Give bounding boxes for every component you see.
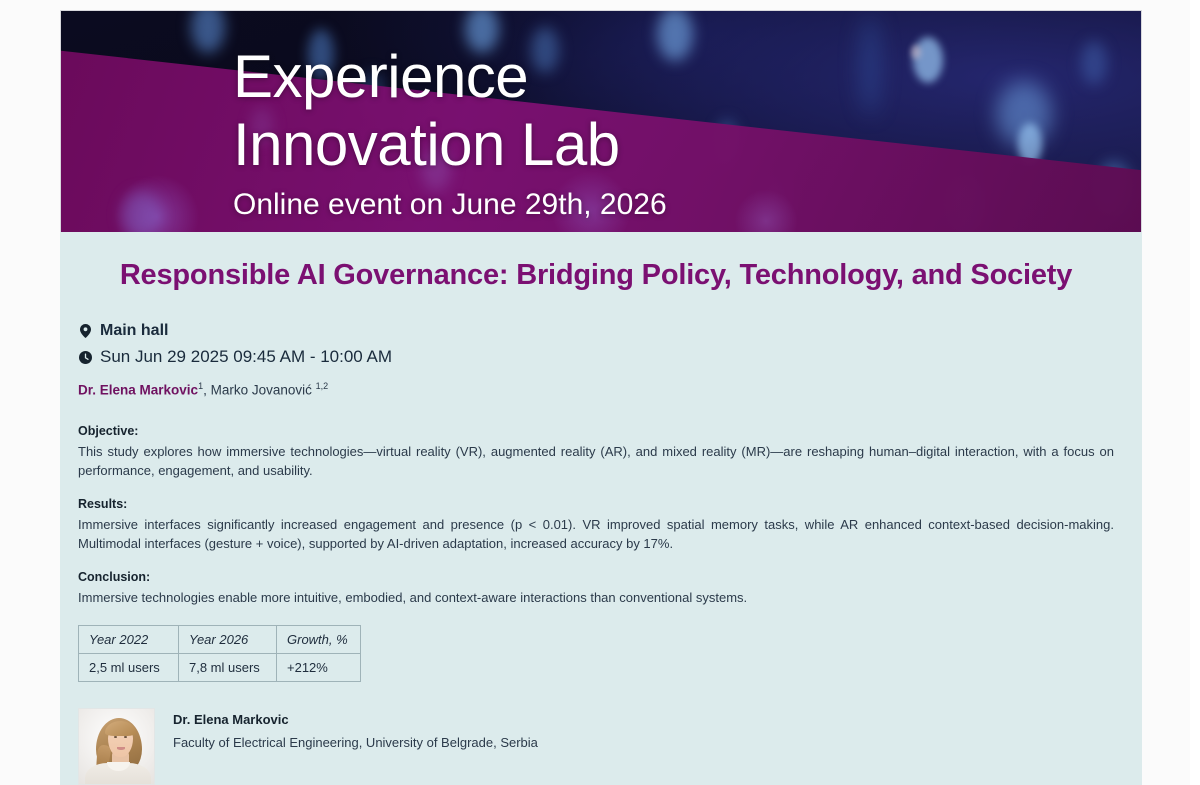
avatar-eye-left bbox=[114, 736, 117, 738]
abstract-conclusion-section: Conclusion: Immersive technologies enabl… bbox=[78, 568, 1114, 607]
speaker-name[interactable]: Dr. Elena Markovic bbox=[173, 710, 538, 730]
abstract-conclusion-label: Conclusion: bbox=[78, 568, 1114, 586]
abstract-objective-text: This study explores how immersive techno… bbox=[78, 442, 1114, 480]
growth-stats-table: Year 2022 Year 2026 Growth, % 2,5 ml use… bbox=[78, 625, 361, 682]
speaker-info: Dr. Elena Markovic Faculty of Electrical… bbox=[173, 708, 538, 753]
author-second-name[interactable]: Marko Jovanović bbox=[211, 383, 312, 398]
banner-text-block: Experience Innovation Lab Online event o… bbox=[233, 43, 1113, 225]
abstract-objective-section: Objective: This study explores how immer… bbox=[78, 422, 1114, 480]
bokeh-light-icon bbox=[121, 191, 161, 232]
clock-icon bbox=[78, 351, 92, 364]
abstract-objective-label: Objective: bbox=[78, 422, 1114, 440]
speaker-affiliation: Faculty of Electrical Engineering, Unive… bbox=[173, 732, 538, 753]
page-title: Responsible AI Governance: Bridging Poli… bbox=[78, 256, 1114, 294]
avatar bbox=[78, 708, 155, 785]
table-cell: 7,8 ml users bbox=[179, 653, 277, 681]
page-right-gutter bbox=[1190, 0, 1200, 785]
table-header-cell: Growth, % bbox=[277, 625, 361, 653]
session-time-label: Sun Jun 29 2025 09:45 AM - 10:00 AM bbox=[100, 345, 392, 369]
abstract-results-text: Immersive interfaces significantly incre… bbox=[78, 515, 1114, 553]
table-cell: +212% bbox=[277, 653, 361, 681]
author-separator: , bbox=[203, 383, 211, 398]
abstract-results-section: Results: Immersive interfaces significan… bbox=[78, 495, 1114, 553]
abstract-results-label: Results: bbox=[78, 495, 1114, 513]
session-time-row: Sun Jun 29 2025 09:45 AM - 10:00 AM bbox=[78, 345, 1114, 369]
avatar-mouth bbox=[117, 747, 125, 750]
banner-subtitle: Online event on June 29th, 2026 bbox=[233, 185, 1113, 225]
banner-title-line-1: Experience bbox=[233, 43, 1113, 111]
session-room-row: Main hall bbox=[78, 320, 1114, 342]
session-room-label: Main hall bbox=[100, 320, 168, 342]
table-cell: 2,5 ml users bbox=[79, 653, 179, 681]
author-lead-name[interactable]: Dr. Elena Markovic bbox=[78, 383, 198, 398]
event-content-card: Experience Innovation Lab Online event o… bbox=[60, 10, 1142, 785]
page-root: Experience Innovation Lab Online event o… bbox=[0, 0, 1200, 785]
session-meta-block: Main hall Sun Jun 29 2025 09:45 AM - 10:… bbox=[78, 320, 1114, 400]
abstract-block: Objective: This study explores how immer… bbox=[78, 422, 1114, 607]
author-second-affil-ref: 1,2 bbox=[316, 381, 329, 391]
table-header-cell: Year 2022 bbox=[79, 625, 179, 653]
abstract-conclusion-text: Immersive technologies enable more intui… bbox=[78, 588, 1114, 607]
speaker-card: Dr. Elena Markovic Faculty of Electrical… bbox=[78, 708, 1114, 785]
avatar-eye-right bbox=[124, 736, 127, 738]
banner-title-line-2: Innovation Lab bbox=[233, 111, 1113, 179]
session-detail-panel: Responsible AI Governance: Bridging Poli… bbox=[60, 232, 1142, 785]
table-header-row: Year 2022 Year 2026 Growth, % bbox=[79, 625, 361, 653]
event-banner: Experience Innovation Lab Online event o… bbox=[60, 10, 1142, 232]
table-header-cell: Year 2026 bbox=[179, 625, 277, 653]
map-pin-icon bbox=[78, 324, 92, 338]
table-row: 2,5 ml users 7,8 ml users +212% bbox=[79, 653, 361, 681]
session-authors: Dr. Elena Markovic1, Marko Jovanović 1,2 bbox=[78, 377, 1114, 400]
